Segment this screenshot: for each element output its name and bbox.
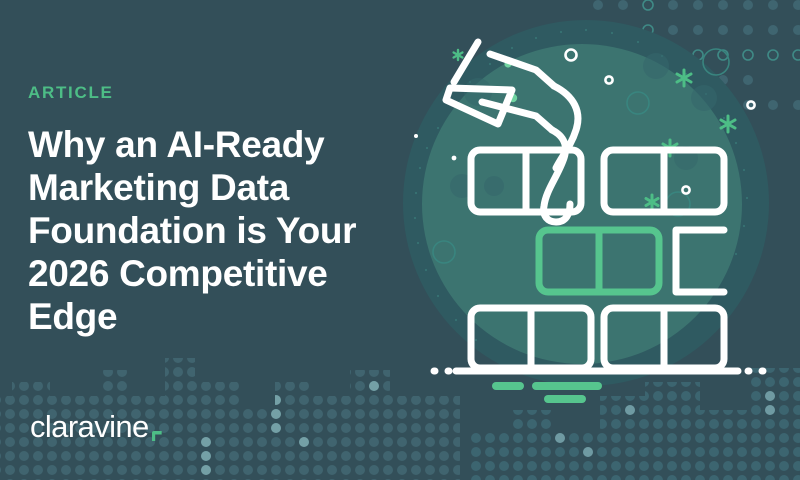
sparkle-icon bbox=[454, 50, 463, 60]
text-column: ARTICLE Why an AI-Ready Marketing Data F… bbox=[28, 84, 408, 338]
hand-laying-bricks-illustration bbox=[386, 8, 786, 408]
claravine-corner-mark-icon bbox=[152, 431, 162, 441]
logo-wordmark: claravine bbox=[30, 411, 149, 442]
page-title: Why an AI-Ready Marketing Data Foundatio… bbox=[28, 123, 368, 338]
claravine-logo[interactable]: claravine bbox=[30, 411, 162, 442]
article-hero-card: ARTICLE Why an AI-Ready Marketing Data F… bbox=[0, 0, 800, 480]
eyebrow-label: ARTICLE bbox=[28, 84, 408, 101]
ground-accent-marks bbox=[496, 386, 598, 399]
